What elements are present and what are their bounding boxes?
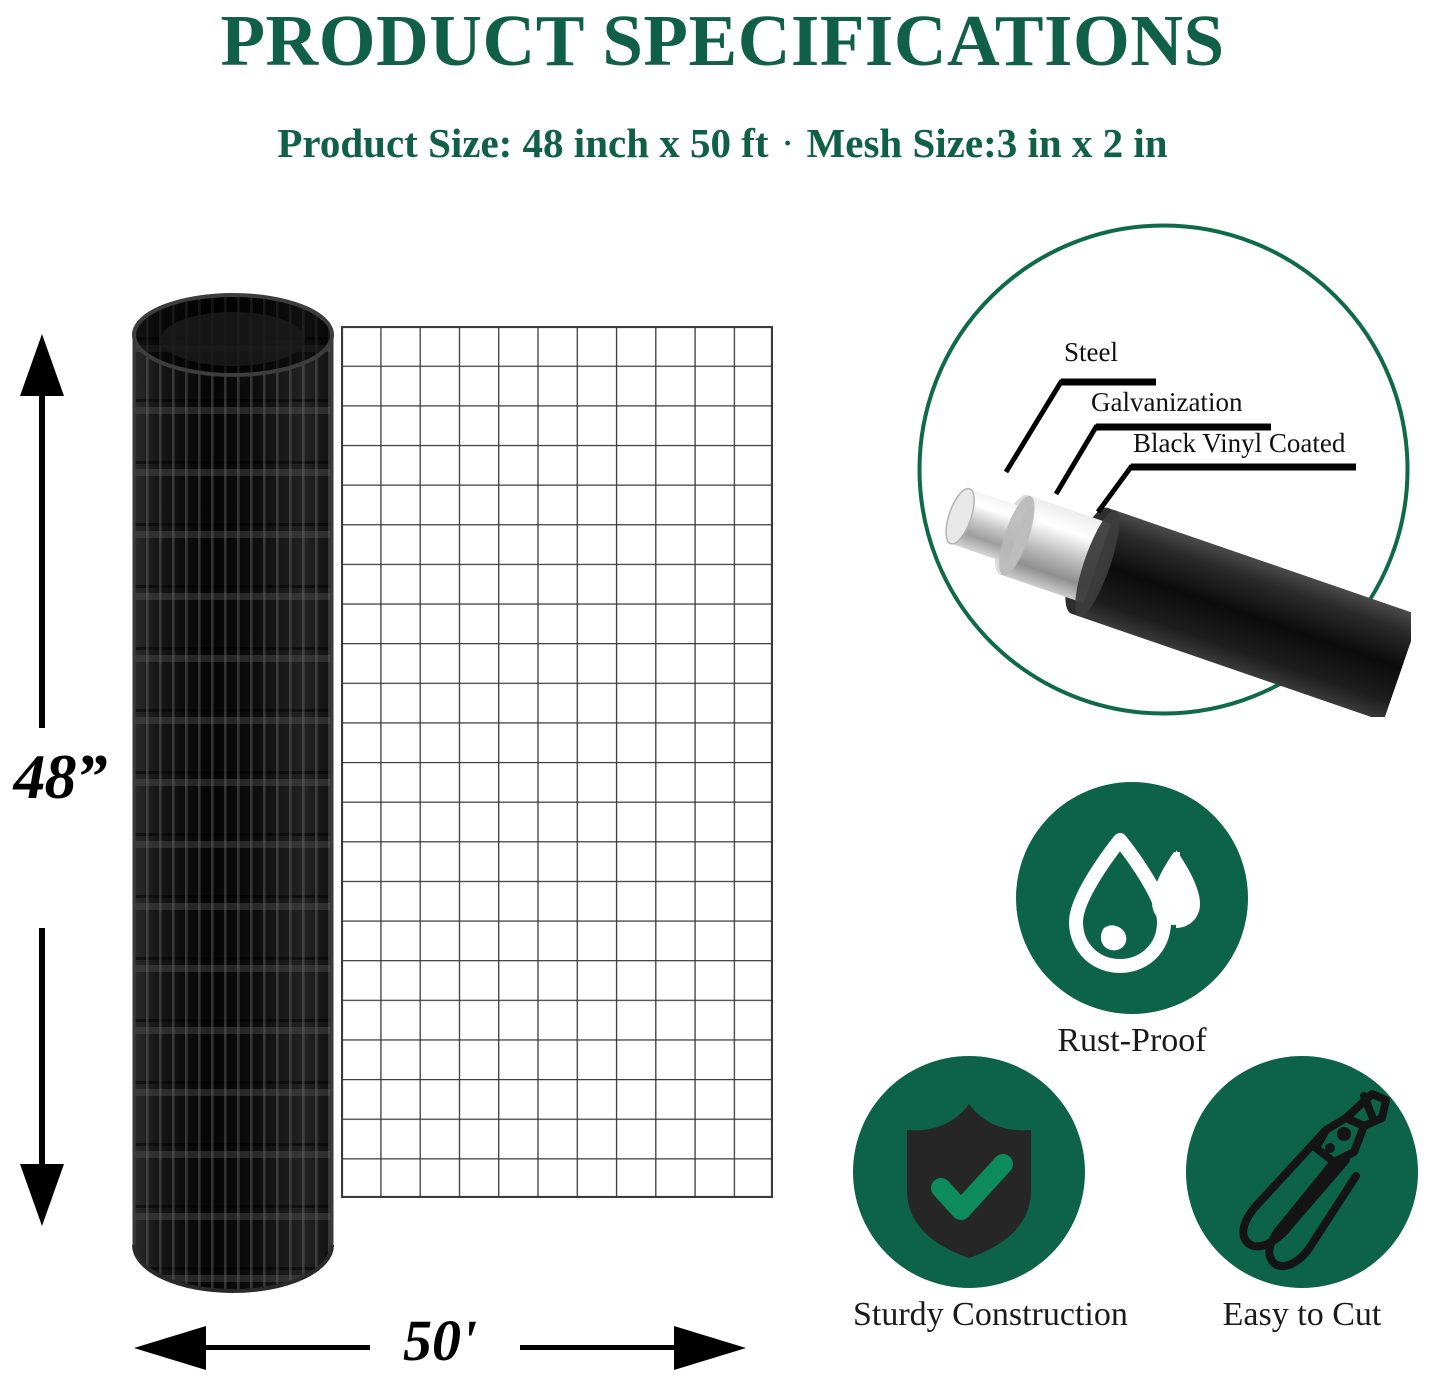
feature-sturdy-construction: Sturdy Construction [853, 1056, 1085, 1336]
wire-mesh-roll [128, 283, 338, 1305]
mesh-size-text: Mesh Size:3 in x 2 in [807, 120, 1168, 166]
feature-badge-circle [1016, 782, 1248, 1014]
feature-easy-to-cut: Easy to Cut [1186, 1056, 1418, 1336]
feature-badge-circle [1186, 1056, 1418, 1288]
feature-label: Sturdy Construction [853, 1294, 1085, 1336]
mesh-grid-panel [341, 326, 773, 1198]
water-drop-icon [1016, 782, 1248, 1014]
feature-rust-proof: Rust-Proof [1016, 782, 1248, 1062]
product-size-text: Product Size: 48 inch x 50 ft [277, 120, 768, 166]
feature-badge-circle [853, 1056, 1085, 1288]
callout-label-galvanization: Galvanization [1091, 386, 1242, 418]
spec-subtitle: Product Size: 48 inch x 50 ft·Mesh Size:… [0, 118, 1445, 169]
subtitle-separator: · [769, 119, 807, 169]
page-title: PRODUCT SPECIFICATIONS [0, 2, 1445, 80]
wire-construction-diagram [916, 222, 1411, 717]
height-dimension-label: 48” [0, 742, 120, 812]
pliers-icon [1186, 1056, 1418, 1288]
width-dimension-label: 50' [380, 1310, 500, 1372]
feature-label: Easy to Cut [1186, 1294, 1418, 1336]
callout-label-black-vinyl-coated: Black Vinyl Coated [1133, 427, 1345, 459]
callout-label-steel: Steel [1064, 336, 1118, 368]
product-specifications-infographic: PRODUCT SPECIFICATIONS Product Size: 48 … [0, 0, 1445, 1381]
shield-check-icon [853, 1056, 1085, 1288]
